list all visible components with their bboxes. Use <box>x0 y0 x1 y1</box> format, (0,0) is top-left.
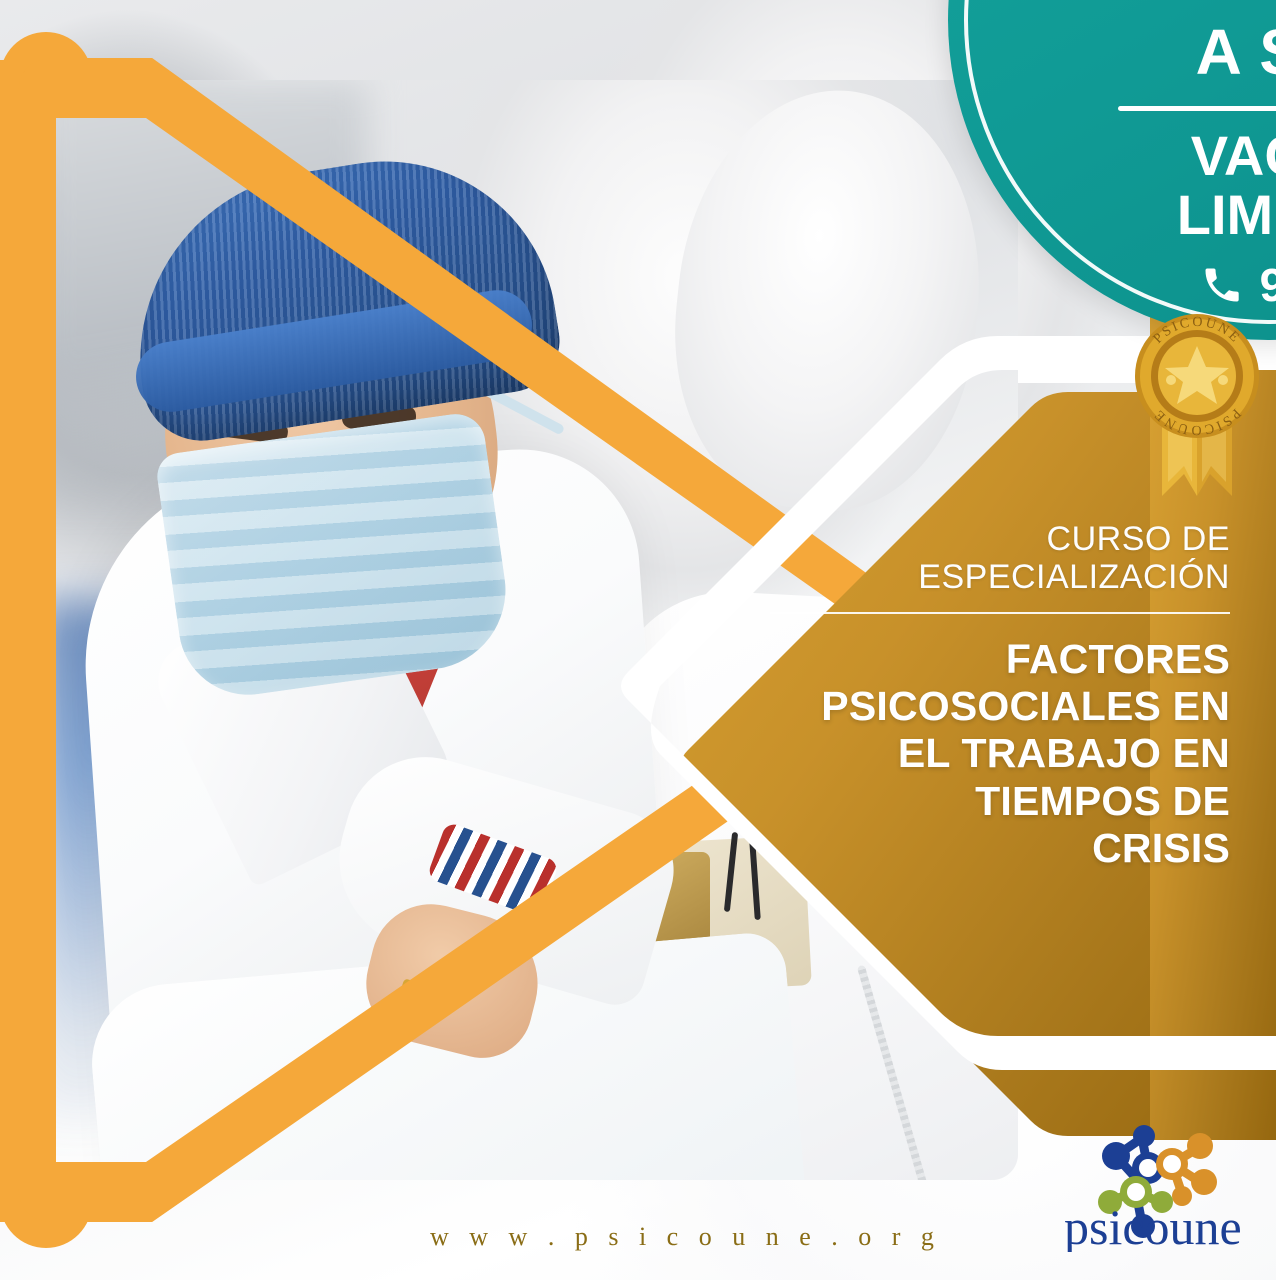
course-headline-line-3: EL TRABAJO EN <box>770 730 1230 777</box>
course-text-block: CURSO DE ESPECIALIZACIÓN FACTORES PSICOS… <box>770 520 1256 872</box>
promo-price: A S/. <box>1196 20 1276 84</box>
course-headline-line-5: CRISIS <box>770 825 1230 872</box>
course-headline-line-2: PSICOSOCIALES EN <box>770 683 1230 730</box>
course-headline-line-4: TIEMPOS DE <box>770 778 1230 825</box>
course-headline-line-1: FACTORES <box>770 636 1230 683</box>
promo-vacancies-line-1: VACA <box>1191 127 1276 185</box>
promo-vacancies-line-2: LIMITA <box>1177 186 1276 244</box>
promo-badge-content: A S/. VACA LIMITA 958 <box>948 0 1276 340</box>
photo-window-mask <box>154 410 516 703</box>
psicoune-logo[interactable]: psicoune <box>1060 1120 1256 1252</box>
promo-phone-number: 958 <box>1260 258 1276 312</box>
phone-icon <box>1200 263 1244 307</box>
course-divider <box>770 612 1230 614</box>
poster-root: A S/. VACA LIMITA 958 <box>0 0 1276 1280</box>
promo-phone-row: 958 <box>1200 258 1276 312</box>
course-kicker-line-1: CURSO DE <box>770 520 1230 558</box>
psicoune-wordmark: psicoune <box>1064 1199 1242 1252</box>
award-ribbon-icon: PSICOUNE PSICOUNE <box>1116 310 1276 500</box>
website-url[interactable]: w w w . p s i c o u n e . o r g <box>430 1222 941 1252</box>
promo-divider <box>1118 106 1276 111</box>
course-kicker-line-2: ESPECIALIZACIÓN <box>770 558 1230 596</box>
